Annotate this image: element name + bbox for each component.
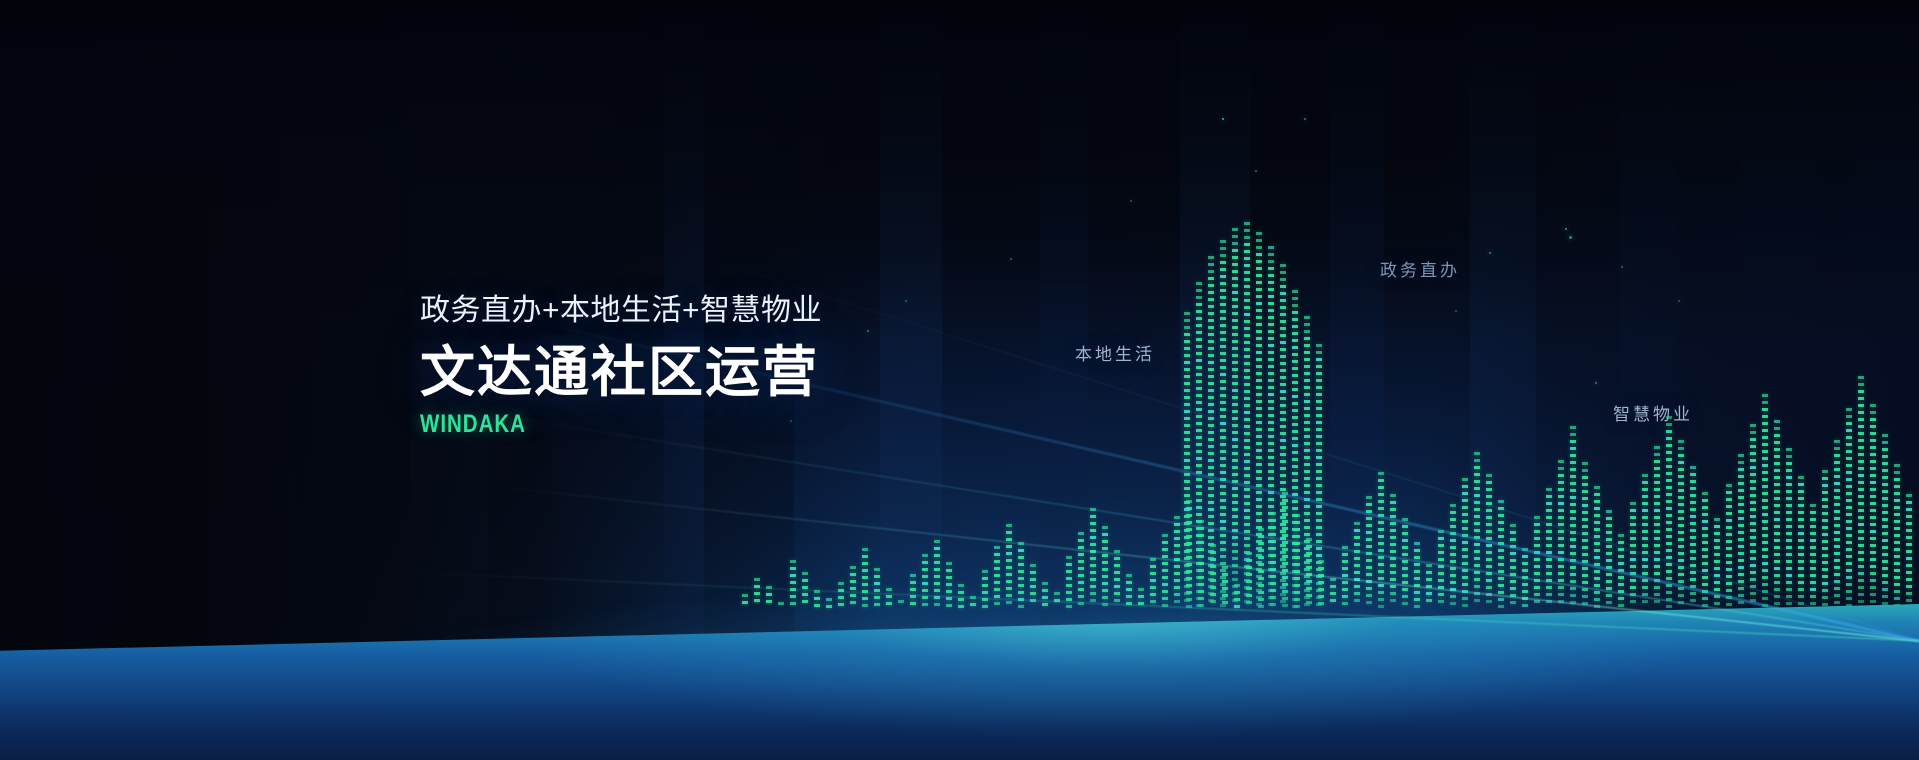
skyline-column [1078,532,1084,612]
skyline-column [1834,440,1840,612]
skyline-column [1042,582,1048,612]
skyline-column [1208,256,1214,612]
skyline-column [1606,510,1612,612]
skyline-column [1256,232,1262,612]
skyline-column [1184,312,1190,612]
skyline-column [1366,496,1372,612]
skyline-column [814,590,820,612]
city-label-2: 政务直办 [1380,256,1460,281]
skyline-column [1232,228,1238,612]
skyline-column [1378,472,1384,612]
brand-wordmark: WINDAKA [420,412,750,437]
skyline-column [1018,542,1024,612]
skyline-column [1292,290,1298,612]
skyline-column [1390,494,1396,612]
skyline-column [778,602,784,612]
skyline-column [802,572,808,612]
skyline-column [982,570,988,612]
skyline-column [766,586,772,612]
skyline-column [1150,558,1156,612]
skyline-column [946,562,952,612]
skyline-column [1054,592,1060,612]
banner-root: 政务直办+本地生活+智慧物业 文达通社区运营 WINDAKA 本地生活政务直办智… [0,0,1919,760]
skyline-column [994,546,1000,612]
skyline-column [1354,522,1360,612]
skyline-column [1738,454,1744,612]
skyline-column [1534,516,1540,612]
skyline-column [1220,240,1226,612]
skyline-column [1882,434,1888,612]
skyline-column [754,578,760,612]
skyline-column [1870,404,1876,612]
skyline-column [1426,564,1432,612]
skyline-column [1750,424,1756,612]
skyline-column [862,548,868,612]
skyline-column [850,566,856,612]
skyline-column [934,540,940,612]
skyline-column [1268,246,1274,612]
skyline-column [1678,440,1684,612]
skyline-column [1066,556,1072,612]
skyline-column [922,554,928,612]
skyline-column [1006,524,1012,612]
city-label-3: 智慧物业 [1613,400,1693,425]
skyline-column [970,596,976,612]
skyline-column [1618,534,1624,612]
city-label-1: 本地生活 [1075,340,1155,365]
skyline-column [1114,550,1120,612]
skyline-column [1798,476,1804,612]
skyline-column [1304,316,1310,612]
skyline-column [838,582,844,612]
skyline-column [1486,474,1492,612]
skyline-column [1906,494,1912,612]
skyline-column [1342,546,1348,612]
skyline-column [1714,518,1720,612]
skyline-column [1594,486,1600,612]
skyline-column [1090,508,1096,612]
skyline-column [1690,466,1696,612]
skyline-column [1138,588,1144,612]
skyline-column [1894,464,1900,612]
skyline-column [1402,518,1408,612]
skyline-column [1330,578,1336,612]
skyline-column [1774,420,1780,612]
skyline-column [1474,452,1480,612]
skyline-column [1244,222,1250,612]
skyline-column [1630,502,1636,612]
skyline-column [898,600,904,612]
skyline-column [1414,542,1420,612]
headline-block: 政务直办+本地生活+智慧物业 文达通社区运营 WINDAKA [420,296,822,437]
skyline-column [826,598,832,612]
skyline-column [1498,500,1504,612]
skyline-column [1642,474,1648,612]
skyline-column [1196,282,1202,612]
skyline-column [958,584,964,612]
skyline-column [1786,448,1792,612]
skyline-column [1570,426,1576,612]
skyline-column [790,560,796,612]
skyline-column [1702,492,1708,612]
skyline-column [1558,460,1564,612]
skyline-column [1762,394,1768,612]
skyline-column [1462,478,1468,612]
skyline-column [886,588,892,612]
skyline-column [1030,564,1036,612]
skyline-column [1438,530,1444,612]
banner-title: 文达通社区运营 [420,343,822,401]
skyline-column [1822,470,1828,612]
skyline-column [1450,504,1456,612]
skyline-column [1316,344,1322,612]
skyline-column [874,568,880,612]
skyline-column [1582,462,1588,612]
banner-subtitle: 政务直办+本地生活+智慧物业 [420,296,822,326]
skyline-column [1810,504,1816,612]
skyline-column [1546,488,1552,612]
skyline-column [1666,416,1672,612]
skyline-column [1126,574,1132,612]
skyline-column [1654,446,1660,612]
skyline-column [1726,484,1732,612]
skyline-column [1510,524,1516,612]
skyline-column [1102,526,1108,612]
skyline-column [910,574,916,612]
skyline-column [1162,534,1168,612]
skyline-column [1174,516,1180,612]
skyline-column [1846,408,1852,612]
skyline-column [742,594,748,612]
skyline-column [1280,264,1286,612]
skyline-column [1858,376,1864,612]
skyline-column [1522,548,1528,612]
